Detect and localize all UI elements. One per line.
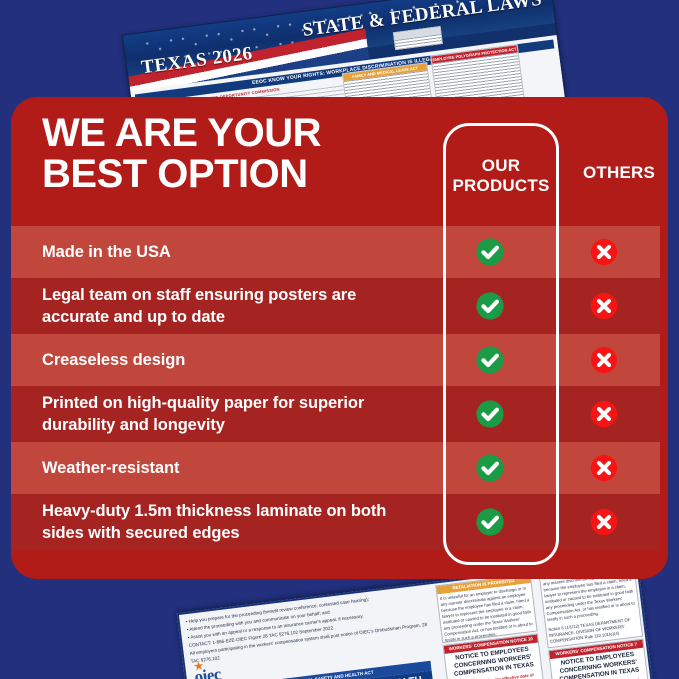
- our-products-check-cell: [432, 453, 548, 483]
- others-x-cell: [548, 507, 660, 537]
- page-title: WE ARE YOUR BEST OPTION: [42, 113, 321, 195]
- check-circle-icon: [475, 453, 505, 483]
- others-x-cell: [548, 453, 660, 483]
- feature-label: Legal team on staff ensuring posters are…: [11, 284, 432, 328]
- retaliation-card: RETALIATION IS PROHIBITED It is unlawful…: [435, 574, 537, 643]
- x-circle-icon: [589, 507, 619, 537]
- comparison-table: Made in the USALegal team on staff ensur…: [11, 226, 668, 564]
- x-circle-icon: [589, 345, 619, 375]
- column-header-our-products: OUR PRODUCTS: [443, 97, 559, 226]
- our-products-check-cell: [432, 237, 548, 267]
- check-circle-icon: [475, 345, 505, 375]
- table-row: Weather-resistant: [11, 442, 660, 494]
- our-products-check-cell: [432, 291, 548, 321]
- others-x-cell: [548, 291, 660, 321]
- table-row: Printed on high-quality paper for superi…: [11, 386, 660, 442]
- comparison-panel: WE ARE YOUR BEST OPTION OUR PRODUCTS OTH…: [11, 97, 668, 579]
- our-products-check-cell: [432, 345, 548, 375]
- check-circle-icon: [475, 237, 505, 267]
- feature-label: Weather-resistant: [11, 457, 432, 479]
- table-row: Legal team on staff ensuring posters are…: [11, 278, 660, 334]
- feature-label: Made in the USA: [11, 241, 432, 263]
- comparison-panel-header: WE ARE YOUR BEST OPTION OUR PRODUCTS OTH…: [11, 97, 668, 226]
- check-circle-icon: [475, 399, 505, 429]
- x-circle-icon: [589, 453, 619, 483]
- column-header-our-products-line1: OUR: [453, 156, 550, 176]
- x-circle-icon: [589, 399, 619, 429]
- page-title-line1: WE ARE YOUR: [42, 113, 321, 154]
- table-row: Made in the USA: [11, 226, 660, 278]
- page-title-line2: BEST OPTION: [42, 154, 321, 195]
- others-x-cell: [548, 399, 660, 429]
- table-row: Heavy-duty 1.5m thickness laminate on bo…: [11, 494, 660, 550]
- panel-bottom-padding: [11, 550, 668, 564]
- feature-label: Printed on high-quality paper for superi…: [11, 392, 432, 436]
- others-x-cell: [548, 345, 660, 375]
- others-x-cell: [548, 237, 660, 267]
- check-circle-icon: [475, 291, 505, 321]
- x-circle-icon: [589, 237, 619, 267]
- column-header-others: OTHERS: [560, 97, 668, 226]
- table-row: Creaseless design: [11, 334, 660, 386]
- x-circle-icon: [589, 291, 619, 321]
- our-products-check-cell: [432, 399, 548, 429]
- feature-label: Creaseless design: [11, 349, 432, 371]
- oiec-logo: oiec: [193, 664, 222, 679]
- column-header-our-products-line2: PRODUCTS: [453, 176, 550, 196]
- feature-label: Heavy-duty 1.5m thickness laminate on bo…: [11, 500, 432, 544]
- check-circle-icon: [475, 507, 505, 537]
- our-products-check-cell: [432, 507, 548, 537]
- poster-bottom-middle-column: RETALIATION IS PROHIBITED It is unlawful…: [433, 572, 551, 679]
